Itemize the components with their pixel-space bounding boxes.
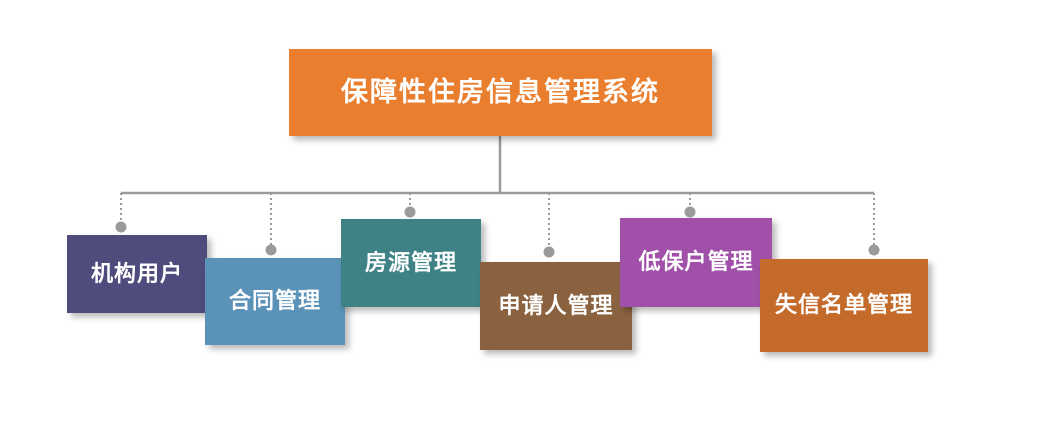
node-child-label-4: 申请人管理 bbox=[498, 294, 613, 318]
node-child-label-6: 失信名单管理 bbox=[775, 293, 913, 317]
node-root-label: 保障性住房信息管理系统 bbox=[341, 78, 660, 108]
connector-dot-4 bbox=[544, 247, 555, 258]
connector-dot-1 bbox=[116, 222, 127, 233]
node-root[interactable]: 保障性住房信息管理系统 bbox=[289, 49, 712, 136]
node-child-6[interactable]: 失信名单管理 bbox=[760, 259, 928, 352]
node-child-2[interactable]: 合同管理 bbox=[205, 258, 345, 345]
node-child-1[interactable]: 机构用户 bbox=[67, 235, 207, 313]
node-child-label-3: 房源管理 bbox=[365, 251, 457, 275]
connector-dot-6 bbox=[869, 245, 880, 256]
node-child-label-1: 机构用户 bbox=[91, 262, 183, 286]
node-child-label-2: 合同管理 bbox=[229, 289, 321, 313]
node-child-5[interactable]: 低保户管理 bbox=[620, 218, 772, 307]
node-child-label-5: 低保户管理 bbox=[638, 250, 753, 274]
node-child-3[interactable]: 房源管理 bbox=[341, 219, 481, 307]
org-chart-diagram: 机构用户合同管理房源管理申请人管理低保户管理失信名单管理保障性住房信息管理系统 bbox=[0, 0, 1039, 442]
connector-dot-2 bbox=[266, 245, 277, 256]
node-child-4[interactable]: 申请人管理 bbox=[480, 262, 632, 350]
connector-dot-5 bbox=[685, 207, 696, 218]
connector-dot-3 bbox=[405, 207, 416, 218]
